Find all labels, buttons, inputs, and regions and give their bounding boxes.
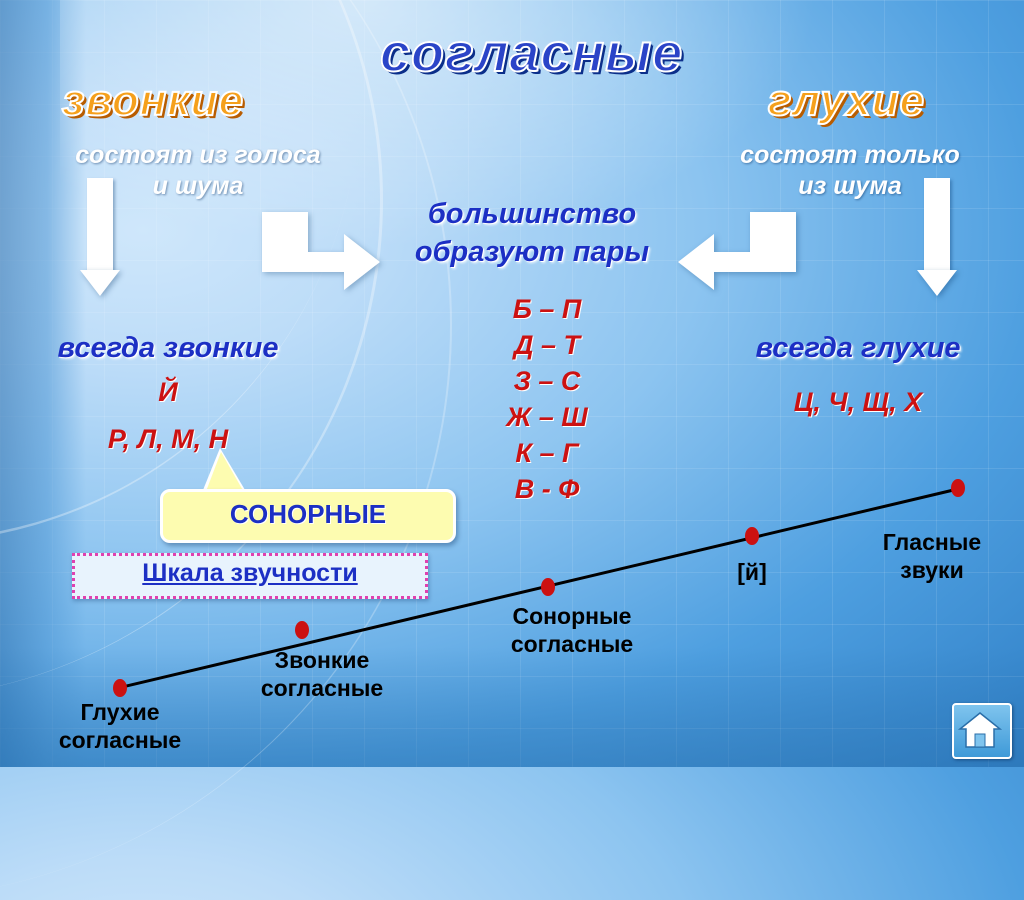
pair-item: Б – П (452, 292, 642, 328)
description-pairs: большинство образуют пары (382, 196, 682, 271)
scale-point-label: Гласные звуки (852, 528, 1012, 584)
pair-item: Д – Т (452, 328, 642, 364)
pair-item: З – С (452, 364, 642, 400)
scale-point-label: Сонорные согласные (462, 602, 682, 658)
arrow-down-right (917, 178, 957, 296)
arrow-elbow-left (262, 212, 382, 290)
scale-point-label: [й] (702, 558, 802, 586)
arrow-down-left (80, 178, 120, 296)
arrow-elbow-right (676, 212, 796, 290)
always-voiced-title: всегда звонкие (18, 330, 318, 368)
home-icon (954, 705, 1006, 753)
page-title: согласные (380, 22, 683, 84)
always-voiceless-item: Ц, Ч, Щ, Х (708, 385, 1008, 421)
scale-point-label: Звонкие согласные (212, 646, 432, 702)
always-voiced-item: Й (18, 375, 318, 411)
home-button[interactable] (952, 703, 1012, 759)
scale-point-label: Глухие согласные (20, 698, 220, 754)
heading-voiceless: глухие (768, 76, 925, 126)
heading-voiced: звонкие (62, 76, 244, 126)
always-voiceless-title: всегда глухие (708, 330, 1008, 368)
